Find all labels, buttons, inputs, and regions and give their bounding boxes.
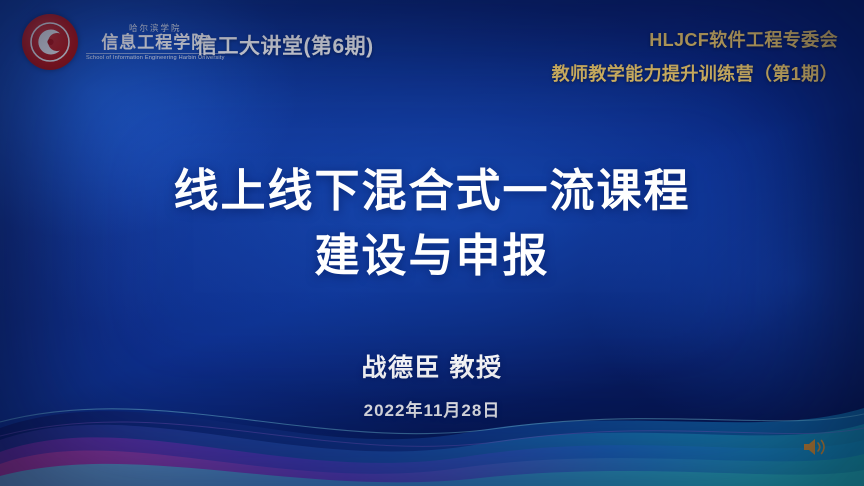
- university-emblem-icon: [22, 14, 78, 70]
- speaker-volume-icon[interactable]: [802, 436, 828, 458]
- page-title: 线上线下混合式一流课程 建设与申报: [0, 158, 864, 289]
- page-title-line-2: 建设与申报: [0, 223, 864, 288]
- header-organization: HLJCF软件工程专委会: [552, 26, 838, 52]
- series-title: 信工大讲堂(第6期): [196, 30, 374, 60]
- presentation-slide: 哈尔滨学院 信息工程学院 School of Information Engin…: [0, 0, 864, 486]
- presenter-name: 战德臣 教授: [0, 348, 864, 384]
- header-right-block: HLJCF软件工程专委会 教师教学能力提升训练营（第1期）: [552, 26, 838, 86]
- header-event-name: 教师教学能力提升训练营（第1期）: [552, 60, 838, 86]
- presentation-date: 2022年11月28日: [0, 396, 864, 421]
- institution-logo: 哈尔滨学院 信息工程学院 School of Information Engin…: [22, 14, 225, 70]
- page-title-line-1: 线上线下混合式一流课程: [173, 165, 690, 216]
